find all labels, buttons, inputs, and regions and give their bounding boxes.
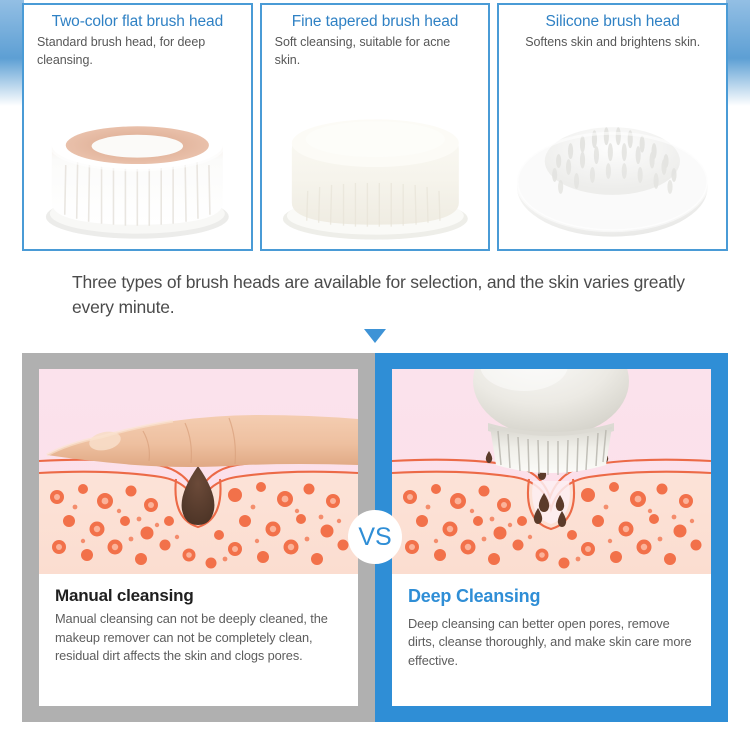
hand-on-clogged-pore-illustration <box>39 369 358 574</box>
deep-cleansing-body: Deep cleansing can better open pores, re… <box>408 615 697 671</box>
brush-card-title: Two-color flat brush head <box>24 5 251 33</box>
vs-badge: VS <box>348 510 402 564</box>
middle-banner: Three types of brush heads are available… <box>0 258 750 348</box>
brush-card-description: Soft cleansing, suitable for acne skin. <box>262 33 489 69</box>
brush-card-title: Fine tapered brush head <box>262 5 489 33</box>
right-edge-band <box>726 0 750 106</box>
brush-card-description: Softens skin and brightens skin. <box>499 33 726 51</box>
manual-cleansing-body: Manual cleansing can not be deeply clean… <box>55 610 344 666</box>
brush-cleaning-pore-illustration <box>392 369 711 574</box>
comparison-panel-manual: Manual cleansing Manual cleansing can no… <box>22 353 375 722</box>
manual-cleansing-title: Manual cleansing <box>55 586 344 606</box>
chevron-down-triangle-icon <box>364 329 386 343</box>
brush-card-two-color-flat[interactable]: Two-color flat brush head Standard brush… <box>22 3 253 251</box>
fine-tapered-brush-photo <box>262 99 489 249</box>
deep-cleansing-caption: Deep Cleansing Deep cleansing can better… <box>392 574 711 706</box>
brush-card-title: Silicone brush head <box>499 5 726 33</box>
two-color-flat-brush-photo <box>24 99 251 249</box>
brush-card-silicone[interactable]: Silicone brush head Softens skin and bri… <box>497 3 728 251</box>
infographic-page: Two-color flat brush head Standard brush… <box>0 0 750 750</box>
deep-cleansing-title: Deep Cleansing <box>408 586 697 608</box>
brush-card-fine-tapered[interactable]: Fine tapered brush head Soft cleansing, … <box>260 3 491 251</box>
brush-card-description: Standard brush head, for deep cleansing. <box>24 33 251 69</box>
brush-head-cards-row: Two-color flat brush head Standard brush… <box>22 3 728 251</box>
left-edge-band <box>0 0 24 106</box>
manual-cleansing-caption: Manual cleansing Manual cleansing can no… <box>39 574 358 706</box>
silicone-brush-photo <box>499 99 726 249</box>
comparison-panel-deep: Deep Cleansing Deep cleansing can better… <box>375 353 728 722</box>
middle-banner-text: Three types of brush heads are available… <box>72 270 697 321</box>
